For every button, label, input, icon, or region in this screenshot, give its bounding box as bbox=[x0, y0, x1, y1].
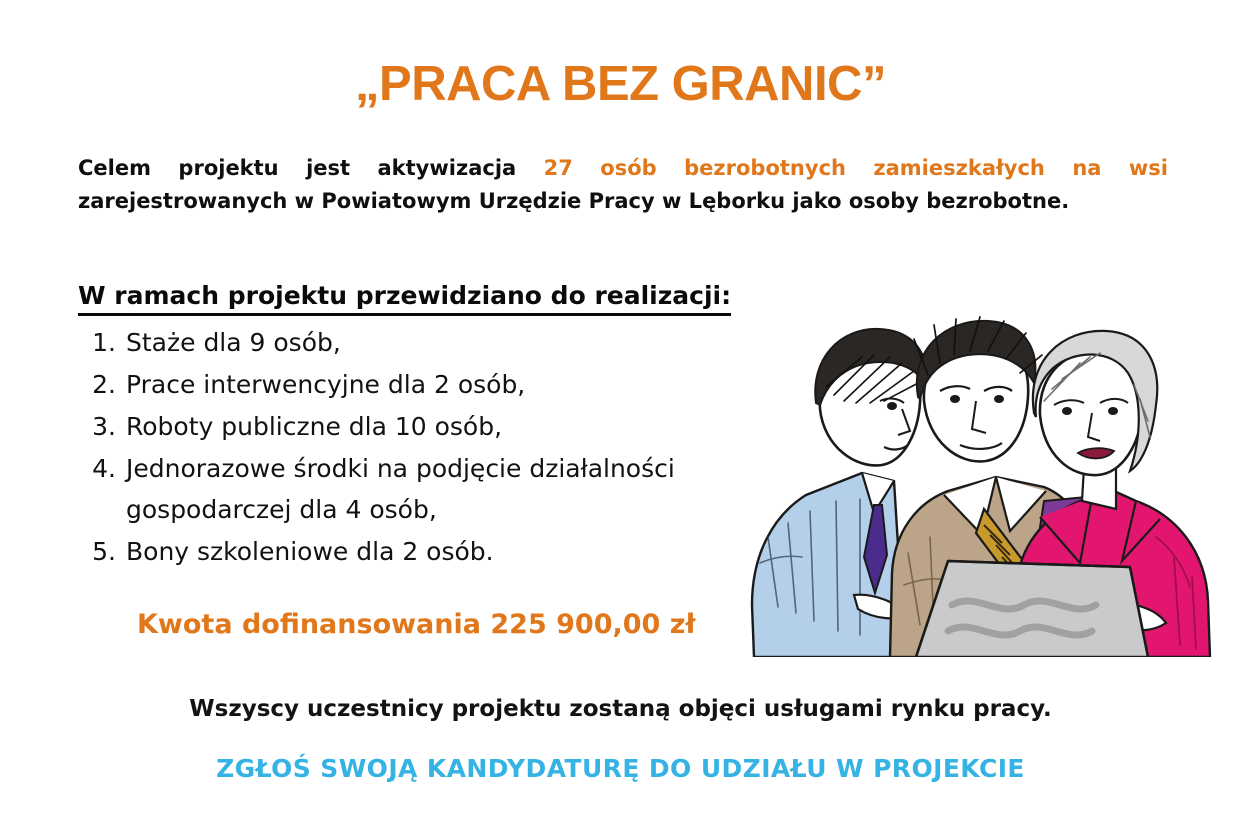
intro-line-1-plain: Celem projektu jest aktywizacja bbox=[78, 156, 544, 180]
list-item: Prace interwencyjne dla 2 osób, bbox=[126, 364, 806, 405]
page-title: „PRACA BEZ GRANIC” bbox=[0, 56, 1241, 112]
list-item: Jednorazowe środki na podjęcie działalno… bbox=[126, 448, 806, 530]
section-heading: W ramach projektu przewidziano do realiz… bbox=[78, 281, 731, 316]
intro-line-2: zarejestrowanych w Powiatowym Urzędzie P… bbox=[78, 185, 1168, 218]
illustration-laptop bbox=[916, 561, 1148, 657]
intro-line-1: Celem projektu jest aktywizacja 27 osób … bbox=[78, 152, 1168, 185]
poster-root: „PRACA BEZ GRANIC” Celem projektu jest a… bbox=[0, 0, 1241, 827]
intro-paragraph: Celem projektu jest aktywizacja 27 osób … bbox=[78, 152, 1168, 218]
closing-note: Wszyscy uczestnicy projektu zostaną obję… bbox=[0, 696, 1241, 722]
list-item: Roboty publiczne dla 10 osób, bbox=[126, 406, 806, 447]
task-list: Staże dla 9 osób, Prace interwencyjne dl… bbox=[78, 322, 806, 573]
list-item: Staże dla 9 osób, bbox=[126, 322, 806, 363]
call-to-action: ZGŁOŚ SWOJĄ KANDYDATURĘ DO UDZIAŁU W PRO… bbox=[0, 754, 1241, 783]
list-item: Bony szkoleniowe dla 2 osób. bbox=[126, 531, 806, 572]
intro-highlight: 27 osób bezrobotnych zamieszkałych na ws… bbox=[544, 156, 1168, 180]
three-people-laptop-illustration bbox=[744, 305, 1220, 657]
funding-amount: Kwota dofinansowania 225 900,00 zł bbox=[137, 609, 695, 640]
